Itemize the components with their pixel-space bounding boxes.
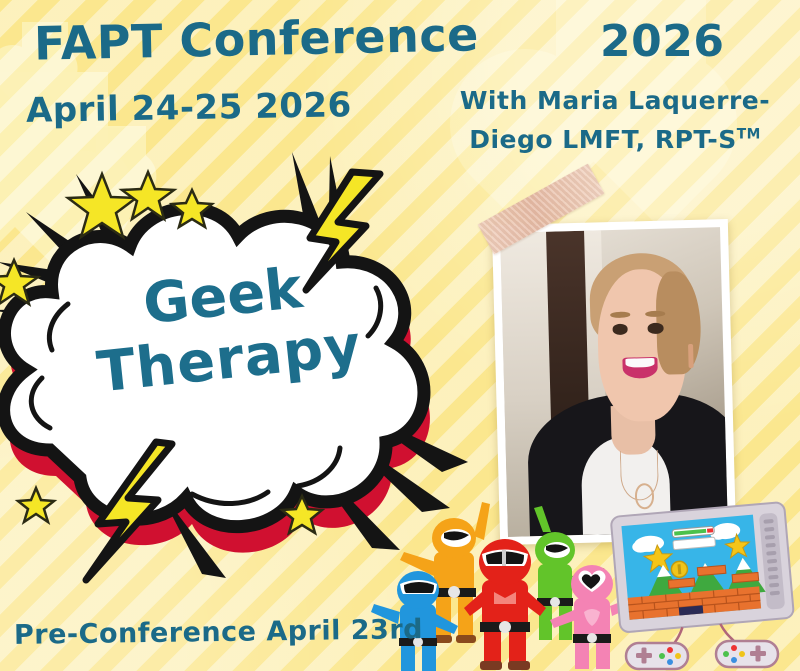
photo-hair-side bbox=[655, 270, 702, 374]
gamepad-left bbox=[626, 643, 688, 669]
page-title: FAPT Conference bbox=[34, 11, 480, 66]
console-screen bbox=[621, 514, 767, 620]
screen-coin bbox=[671, 561, 688, 578]
conference-poster: Geek Therapy bbox=[0, 0, 800, 671]
speaker-name-line2: Diego LMFT, RPT-S bbox=[469, 125, 736, 154]
photo-eyebrow-left bbox=[610, 312, 630, 318]
photo-earring bbox=[688, 343, 694, 367]
preconference-note: Pre-Conference April 23rd bbox=[14, 614, 423, 651]
photo-eyebrow-right bbox=[645, 311, 665, 317]
conference-dates: April 24-25 2026 bbox=[26, 85, 352, 131]
speaker-credit: With Maria Laquerre- Diego LMFT, RPT-STM bbox=[440, 82, 790, 160]
speaker-photo bbox=[500, 227, 728, 537]
speaker-name-line1: With Maria Laquerre- bbox=[460, 86, 770, 115]
photo-eye-left bbox=[612, 324, 628, 335]
red-ranger bbox=[464, 539, 546, 670]
photo-eye-right bbox=[648, 323, 664, 334]
title-year: 2026 bbox=[600, 20, 724, 64]
photo-teeth bbox=[625, 358, 654, 368]
game-console bbox=[612, 505, 800, 671]
gamepad-right bbox=[716, 641, 778, 667]
trademark-symbol: TM bbox=[737, 126, 761, 142]
